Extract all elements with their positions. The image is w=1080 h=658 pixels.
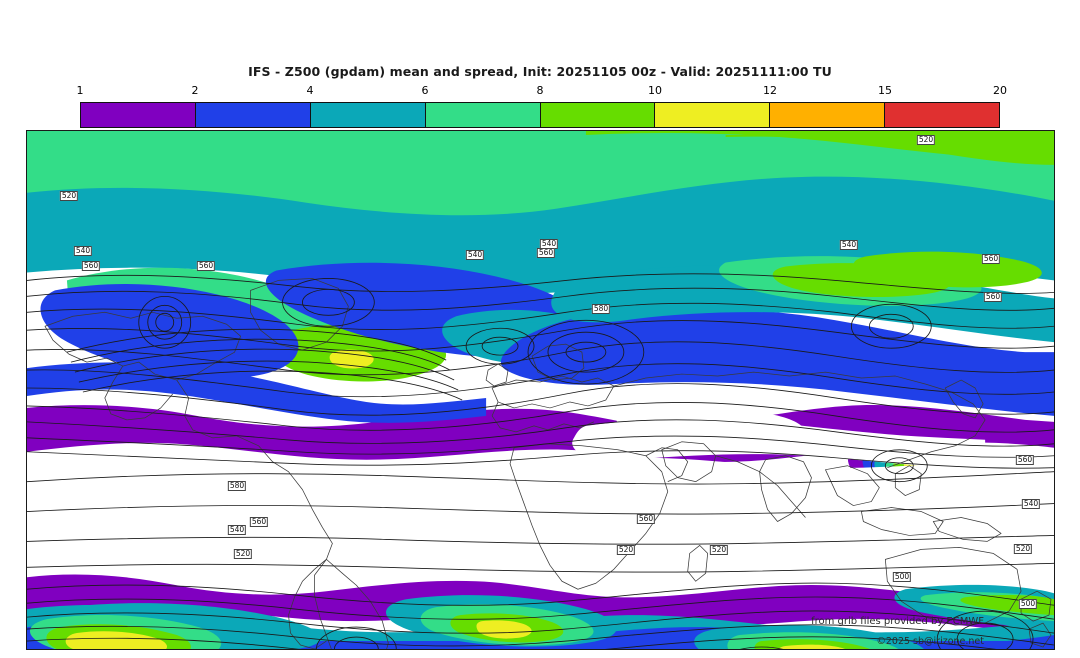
contour-label: 560 bbox=[637, 514, 655, 524]
contour-label: 560 bbox=[537, 248, 555, 258]
colorbar-band-4-6 bbox=[310, 103, 425, 127]
contour-label: 560 bbox=[982, 254, 1000, 264]
contour-label: 520 bbox=[1014, 544, 1032, 554]
contour-label: 520 bbox=[917, 135, 935, 145]
contour-label: 580 bbox=[228, 481, 246, 491]
colorbar-tick-20: 20 bbox=[993, 84, 1007, 97]
colorbar-tick-labels: 1246810121520 bbox=[80, 84, 1000, 100]
colorbar-tick-12: 12 bbox=[763, 84, 777, 97]
contour-label: 540 bbox=[74, 246, 92, 256]
contour-label: 560 bbox=[197, 261, 215, 271]
data-source-credit: from grib files provided by ECMWF bbox=[811, 616, 984, 627]
contour-label: 560 bbox=[984, 292, 1002, 302]
contour-label: 520 bbox=[60, 191, 78, 201]
colorbar-band-2-4 bbox=[195, 103, 310, 127]
contour-label: 540 bbox=[466, 250, 484, 260]
contour-label: 560 bbox=[1016, 455, 1034, 465]
contour-label: 540 bbox=[228, 525, 246, 535]
colorbar-band-1-2 bbox=[81, 103, 195, 127]
colorbar-tick-2: 2 bbox=[192, 84, 199, 97]
contour-label: 520 bbox=[710, 545, 728, 555]
copyright-credit: ©2025 sb@irizone.net bbox=[876, 636, 984, 647]
colorbar-tick-1: 1 bbox=[77, 84, 84, 97]
colorbar-tick-15: 15 bbox=[878, 84, 892, 97]
contour-label: 500 bbox=[1019, 599, 1037, 609]
contour-label: 540 bbox=[1022, 499, 1040, 509]
colorbar-band-10-12 bbox=[654, 103, 769, 127]
page-title: IFS - Z500 (gpdam) mean and spread, Init… bbox=[0, 64, 1080, 79]
contour-label: 560 bbox=[250, 517, 268, 527]
contour-label: 560 bbox=[82, 261, 100, 271]
colorbar-tick-8: 8 bbox=[537, 84, 544, 97]
contour-label: 520 bbox=[234, 549, 252, 559]
contour-label: 520 bbox=[617, 545, 635, 555]
colorbar-band-6-8 bbox=[425, 103, 540, 127]
colorbar-band-15-20 bbox=[884, 103, 999, 127]
contour-label: 540 bbox=[840, 240, 858, 250]
contour-label: 500 bbox=[893, 572, 911, 582]
colorbar bbox=[80, 102, 1000, 128]
colorbar-tick-10: 10 bbox=[648, 84, 662, 97]
colorbar-bands bbox=[80, 102, 1000, 128]
contour-label: 580 bbox=[592, 304, 610, 314]
colorbar-band-12-15 bbox=[769, 103, 884, 127]
weather-map[interactable]: 5205405605605405405605805405605605205805… bbox=[26, 130, 1055, 650]
colorbar-tick-4: 4 bbox=[307, 84, 314, 97]
colorbar-tick-6: 6 bbox=[422, 84, 429, 97]
colorbar-band-8-10 bbox=[540, 103, 655, 127]
